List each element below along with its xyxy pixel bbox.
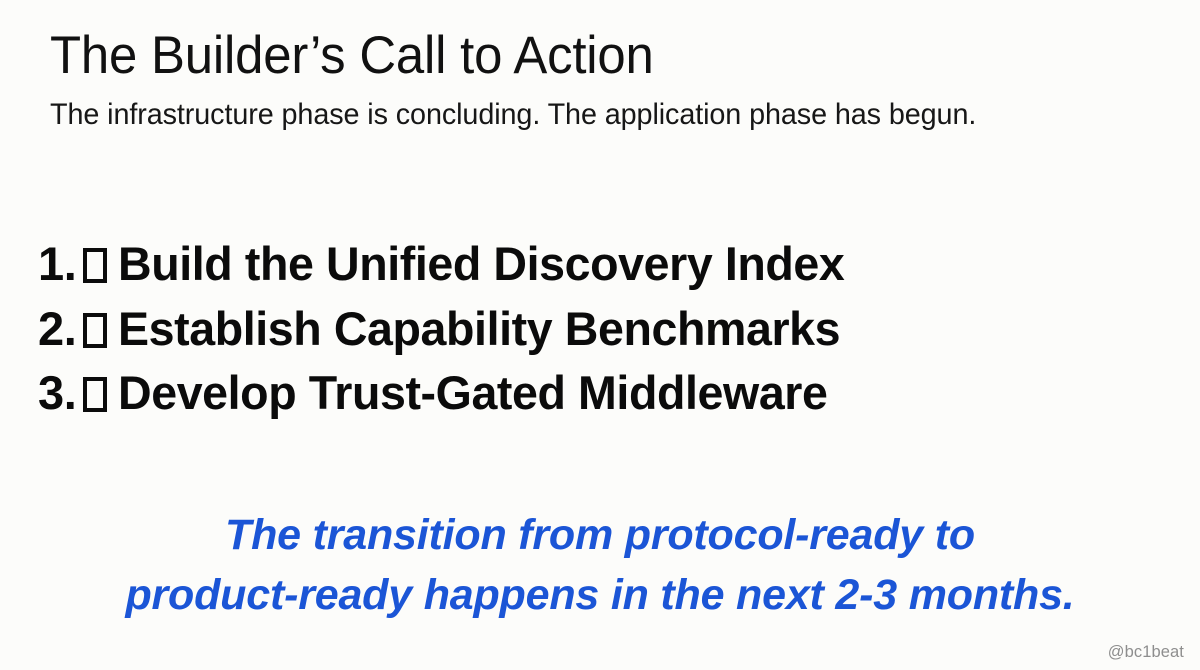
callout-statement: The transition from protocol-ready to pr… (0, 505, 1200, 625)
list-item-number: 1. (38, 232, 83, 297)
callout-line-1: The transition from protocol-ready to (0, 505, 1200, 565)
page-title: The Builder’s Call to Action (50, 26, 1116, 85)
list-item-number: 2. (38, 297, 83, 362)
list-item: 3. Develop Trust-Gated Middleware (38, 361, 1170, 426)
missing-glyph-box-icon (83, 248, 107, 283)
slide-canvas: The Builder’s Call to Action The infrast… (0, 0, 1200, 670)
watermark-handle: @bc1beat (1108, 643, 1184, 662)
list-item-number: 3. (38, 361, 83, 426)
slide-header: The Builder’s Call to Action The infrast… (50, 26, 1160, 133)
list-item-label: Build the Unified Discovery Index (118, 232, 844, 297)
list-item-label: Develop Trust-Gated Middleware (118, 361, 828, 426)
slide-subtitle: The infrastructure phase is concluding. … (50, 97, 1132, 132)
callout-line-2: product-ready happens in the next 2-3 mo… (0, 565, 1200, 625)
list-item: 1. Build the Unified Discovery Index (38, 232, 1170, 297)
missing-glyph-box-icon (83, 377, 107, 412)
list-item-label: Establish Capability Benchmarks (118, 297, 840, 362)
action-list: 1. Build the Unified Discovery Index 2. … (38, 232, 1170, 426)
missing-glyph-box-icon (83, 313, 107, 348)
list-item: 2. Establish Capability Benchmarks (38, 297, 1170, 362)
